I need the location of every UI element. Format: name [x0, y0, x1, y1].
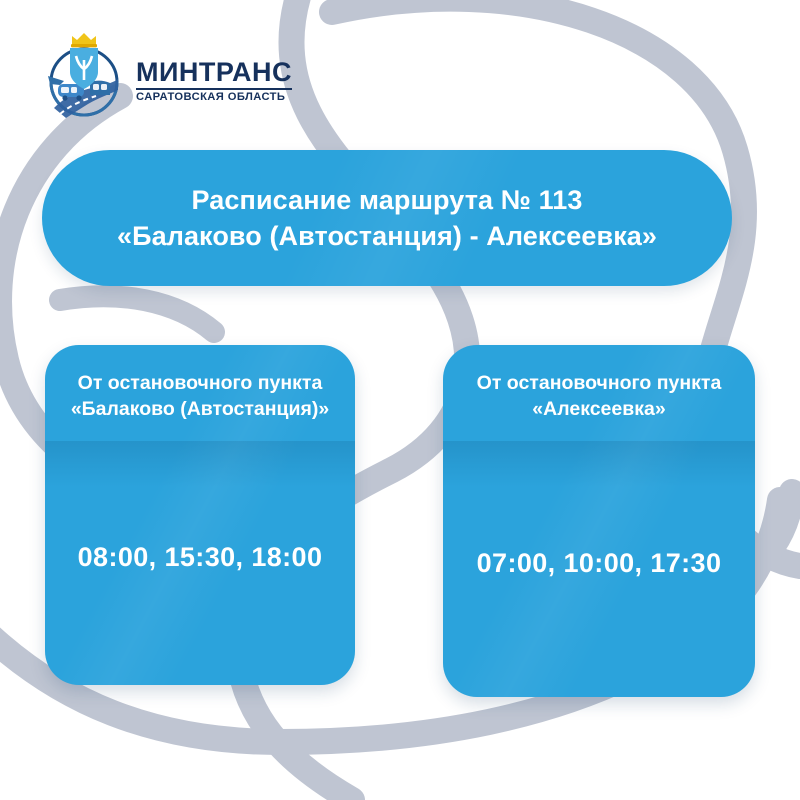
- departure-card-destination: От остановочного пункта «Алексеевка» 07:…: [443, 345, 755, 697]
- schedule-poster: МИНТРАНС САРАТОВСКАЯ ОБЛАСТЬ Расписание …: [0, 0, 800, 800]
- departure-card-destination-heading-line2: «Алексеевка»: [459, 397, 739, 423]
- departure-card-origin-heading-line2: «Балаково (Автостанция)»: [61, 397, 339, 423]
- departure-card-origin-heading: От остановочного пункта «Балаково (Автос…: [61, 371, 339, 423]
- brand-logo: МИНТРАНС САРАТОВСКАЯ ОБЛАСТЬ: [38, 22, 298, 122]
- ministry-emblem-icon: [38, 24, 130, 120]
- route-title-banner: Расписание маршрута № 113 «Балаково (Авт…: [42, 150, 732, 286]
- departure-card-destination-heading: От остановочного пункта «Алексеевка»: [459, 371, 739, 423]
- brand-title: МИНТРАНС: [136, 59, 292, 86]
- departure-times-origin: 08:00, 15:30, 18:00: [78, 542, 323, 573]
- departure-card-destination-header: От остановочного пункта «Алексеевка»: [443, 345, 755, 441]
- brand-subtitle: САРАТОВСКАЯ ОБЛАСТЬ: [136, 92, 292, 103]
- crown-icon: [71, 33, 97, 47]
- departure-card-origin-heading-line1: От остановочного пункта: [61, 371, 339, 397]
- departure-times-destination: 07:00, 10:00, 17:30: [477, 548, 722, 579]
- route-title-line1: Расписание маршрута № 113: [117, 182, 657, 218]
- departure-card-destination-heading-line1: От остановочного пункта: [459, 371, 739, 397]
- brand-wordmark: МИНТРАНС САРАТОВСКАЯ ОБЛАСТЬ: [136, 41, 292, 103]
- departure-card-origin: От остановочного пункта «Балаково (Автос…: [45, 345, 355, 685]
- departure-card-destination-body: 07:00, 10:00, 17:30: [443, 441, 755, 697]
- route-title-text: Расписание маршрута № 113 «Балаково (Авт…: [77, 182, 697, 254]
- departure-card-origin-body: 08:00, 15:30, 18:00: [45, 441, 355, 685]
- departure-card-origin-header: От остановочного пункта «Балаково (Автос…: [45, 345, 355, 441]
- route-title-line2: «Балаково (Автостанция) - Алексеевка»: [117, 218, 657, 254]
- brand-divider: [136, 88, 292, 90]
